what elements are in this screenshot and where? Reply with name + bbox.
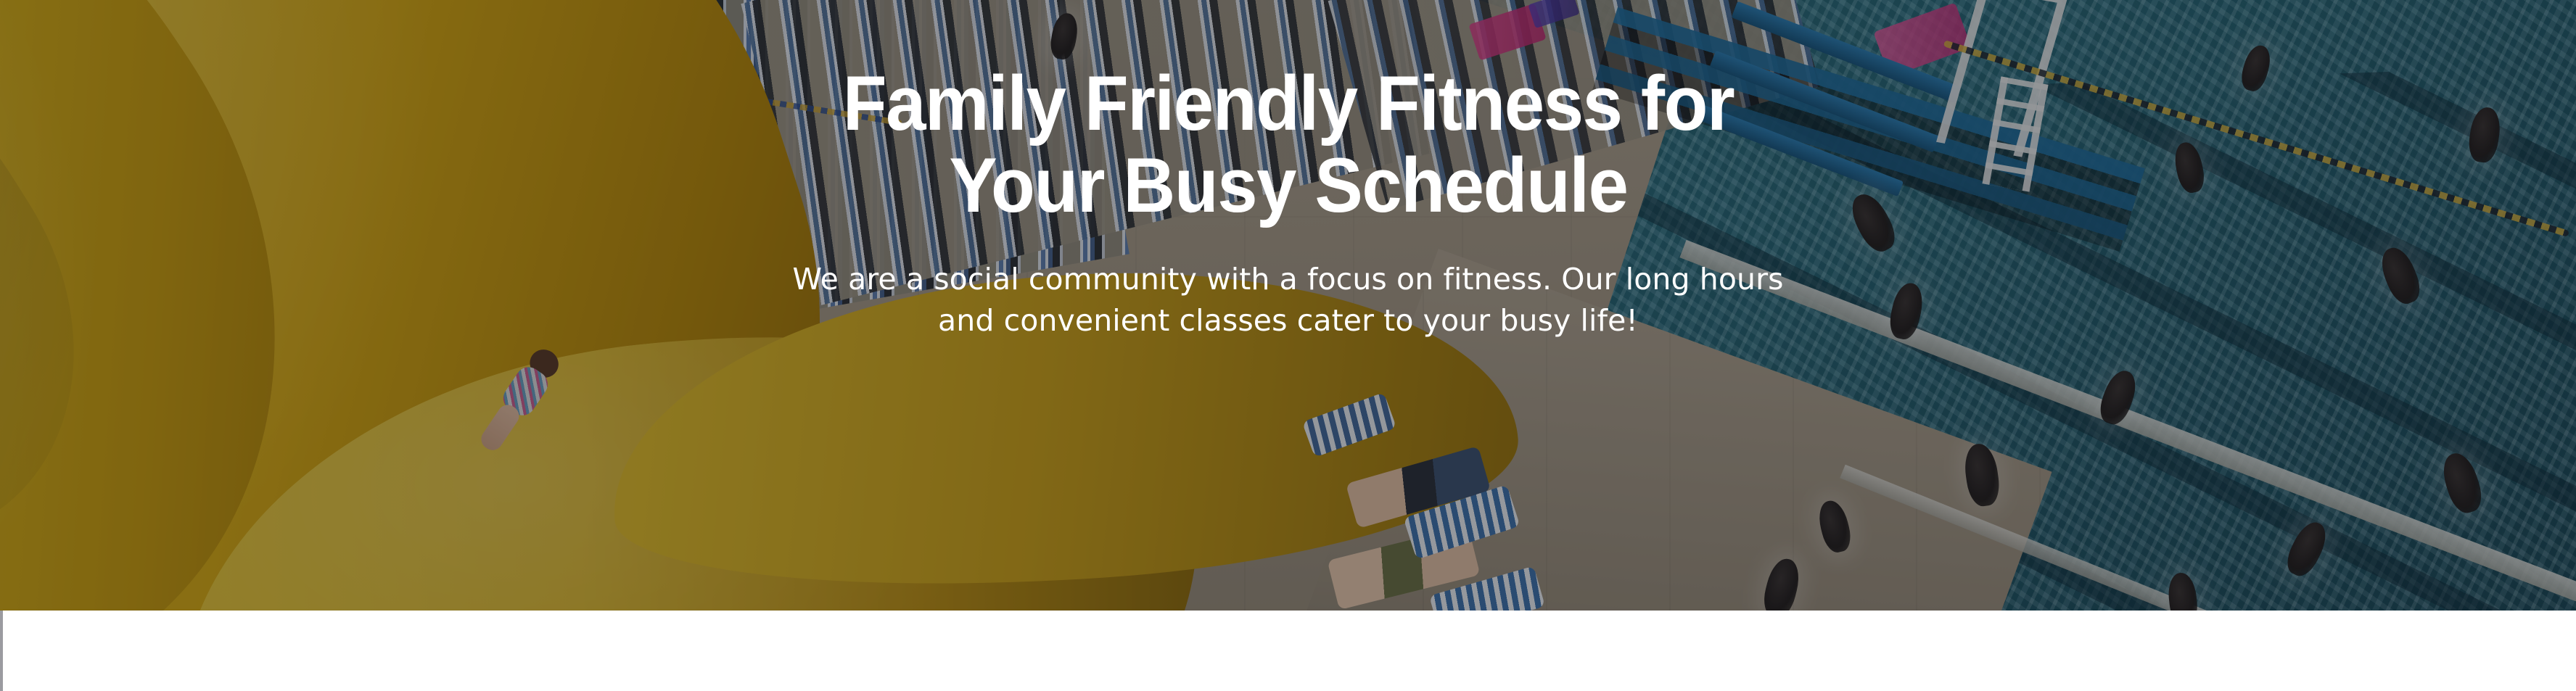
- hero-copy: Family Friendly Fitness for Your Busy Sc…: [0, 0, 2576, 611]
- hero-section: Family Friendly Fitness for Your Busy Sc…: [0, 0, 2576, 650]
- hero-subtitle-line-1: We are a social community with a focus o…: [792, 262, 1783, 297]
- hero-title-line-1: Family Friendly Fitness for: [842, 59, 1734, 146]
- hero-title-line-2: Your Busy Schedule: [949, 141, 1627, 228]
- hero-subtitle: We are a social community with a focus o…: [723, 259, 1854, 342]
- page-title: Family Friendly Fitness for Your Busy Sc…: [762, 62, 1814, 227]
- left-scrollbar-gutter[interactable]: [0, 611, 3, 691]
- hero-subtitle-line-2: and convenient classes cater to your bus…: [938, 303, 1638, 338]
- page-root: Family Friendly Fitness for Your Busy Sc…: [0, 0, 2576, 691]
- content-section-below-hero: [0, 611, 2576, 691]
